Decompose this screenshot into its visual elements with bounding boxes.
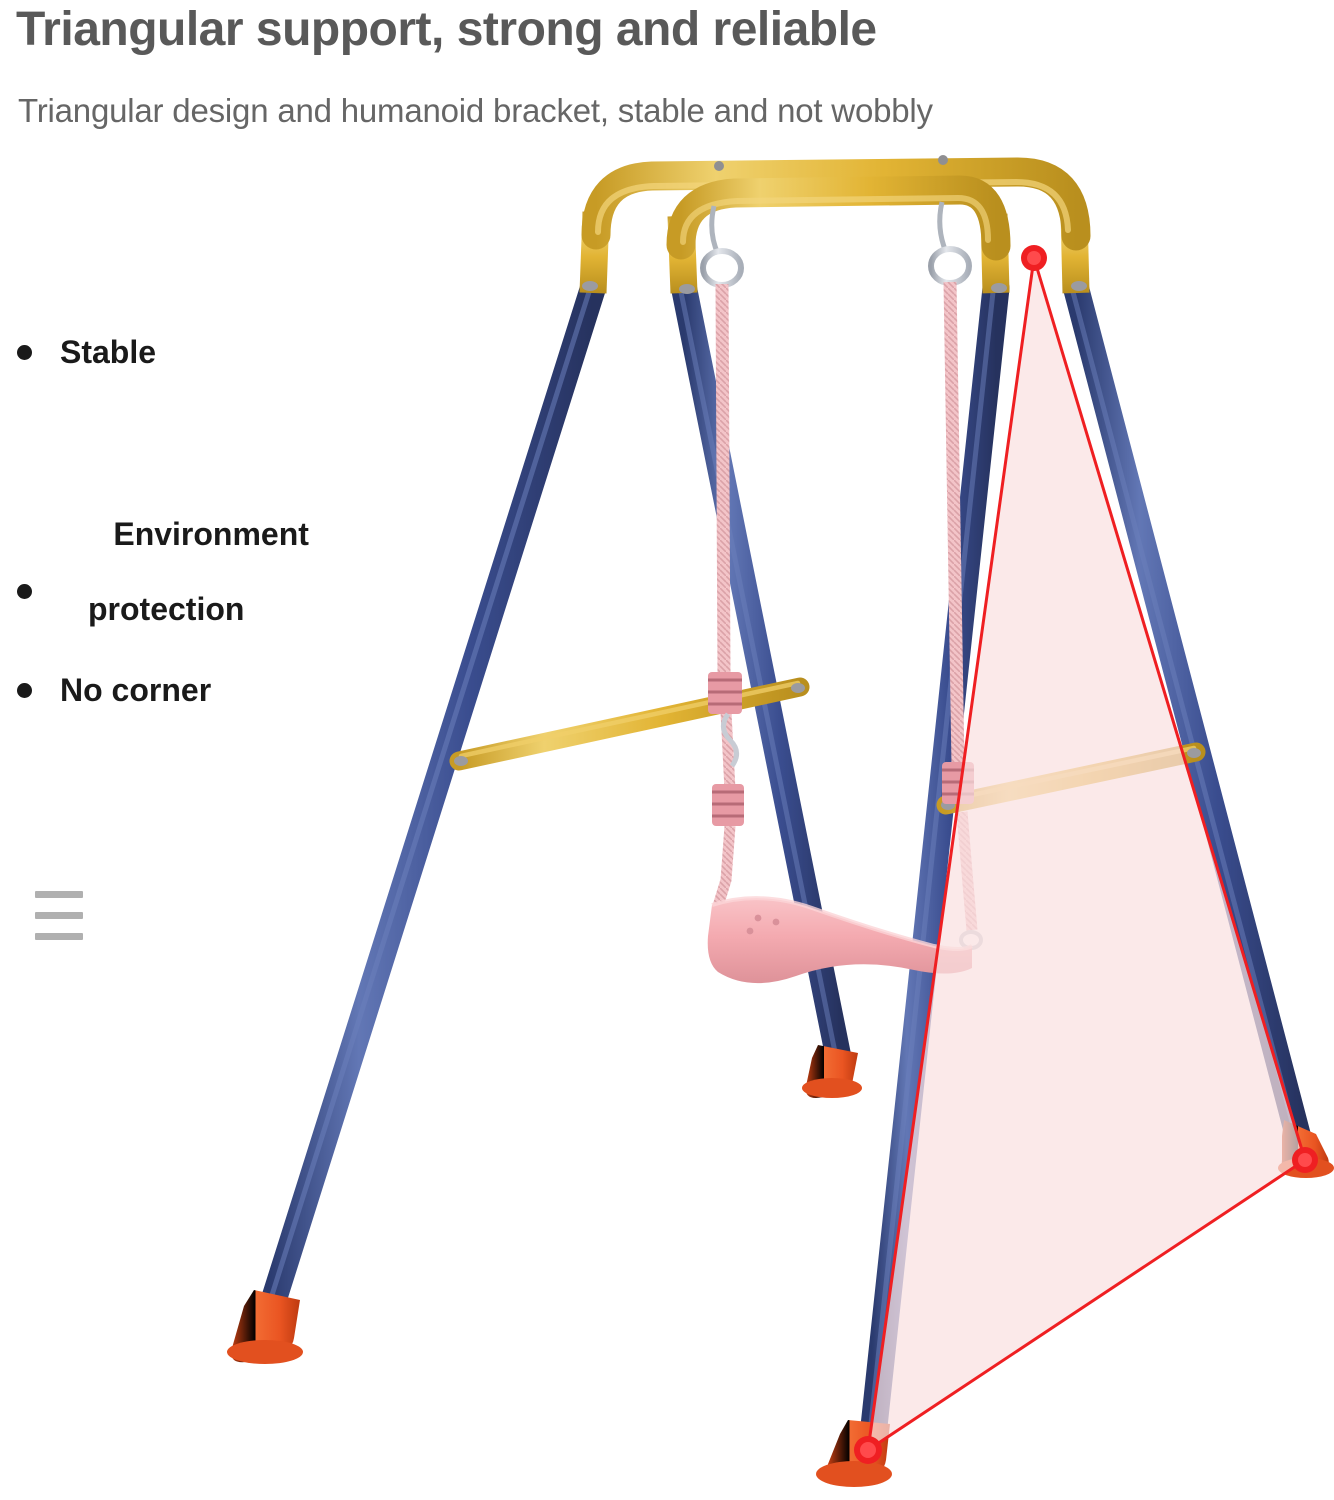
cross-brace-left	[454, 683, 805, 766]
rope-clamp-icon	[942, 762, 974, 804]
vertex-marker-bottom-right	[1292, 1147, 1318, 1173]
vertex-marker-apex	[1021, 245, 1047, 271]
rear-right-leg	[1073, 288, 1303, 1155]
feature-label-environment-protection: Environment protection	[60, 478, 309, 705]
vertex-marker-bottom-left	[854, 1436, 882, 1464]
swing-set-illustration	[0, 0, 1334, 1500]
bullet-dot-icon	[17, 683, 32, 698]
rope-clamp-icon	[708, 672, 742, 714]
feature-item-stable: Stable	[0, 334, 156, 372]
front-left-leg	[681, 288, 840, 1065]
hanger-hardware-right	[931, 192, 969, 283]
top-bar-front	[681, 190, 996, 246]
foot-cap-front-right	[816, 1420, 892, 1487]
feature-label-line1: Environment	[113, 516, 309, 552]
rear-left-leg	[266, 288, 593, 1318]
rope-clamp-icon	[712, 784, 744, 826]
bullet-dot-icon	[17, 345, 32, 360]
hanger-hardware-left	[703, 196, 741, 285]
bolt-hardware	[582, 155, 1087, 294]
three-lines-icon	[35, 891, 83, 939]
feature-label-line2: protection	[60, 591, 309, 629]
line-1	[35, 891, 83, 898]
triangular-support-highlight	[854, 245, 1318, 1464]
page-title: Triangular support, strong and reliable	[16, 2, 877, 57]
feature-item-no-corner: No corner	[0, 672, 211, 710]
front-right-leg	[869, 288, 996, 1445]
top-bar-rear	[596, 172, 1076, 236]
feature-label-stable: Stable	[60, 334, 156, 372]
swing-rope-right	[942, 282, 981, 948]
foot-cap-rear-left	[227, 1290, 303, 1364]
line-3	[35, 933, 83, 940]
cross-brace-right	[941, 748, 1201, 810]
foot-cap-front-left	[802, 1045, 862, 1098]
bullet-dot-icon	[17, 584, 32, 599]
feature-label-no-corner: No corner	[60, 672, 211, 710]
swing-rope-left	[708, 284, 744, 906]
feature-item-environment-protection: Environment protection	[0, 478, 309, 705]
yellow-leg-sleeves	[593, 212, 1076, 293]
page-subtitle: Triangular design and humanoid bracket, …	[18, 92, 933, 130]
foot-cap-rear-right	[1278, 1120, 1334, 1178]
line-2	[35, 912, 83, 919]
swing-seat	[708, 898, 972, 983]
